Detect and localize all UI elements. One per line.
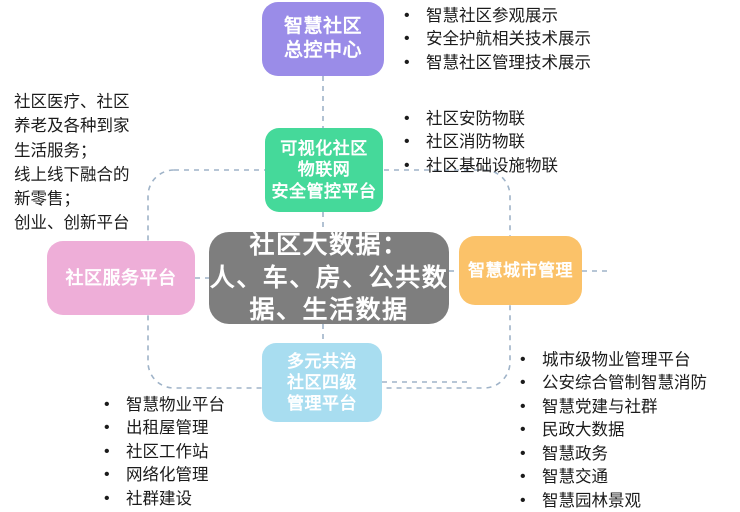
bullet-icon: • [520, 396, 542, 419]
list-item-label: 智慧社区管理技术展示 [426, 52, 591, 75]
list-item: • 安全护航相关技术展示 [404, 28, 591, 51]
list-item-label: 智慧园林景观 [542, 490, 641, 512]
bullet-icon: • [520, 349, 542, 372]
node-multi-governance-four-level-platform[interactable]: 多元共治 社区四级 管理平台 [262, 343, 382, 422]
bullet-icon: • [404, 155, 426, 178]
bullet-icon: • [404, 28, 426, 51]
list-item: • 城市级物业管理平台 [520, 349, 707, 372]
bullet-icon: • [520, 419, 542, 442]
list-item-label: 社群建设 [126, 488, 192, 511]
list-item: • 社区安防物联 [404, 108, 558, 131]
list-item: • 出租屋管理 [104, 417, 225, 440]
list-item: • 公安综合管制智慧消防 [520, 372, 707, 395]
list-item-label: 智慧物业平台 [126, 394, 225, 417]
list-item: • 社区工作站 [104, 441, 225, 464]
bullet-icon: • [404, 131, 426, 154]
node-smart-community-control-center[interactable]: 智慧社区 总控中心 [262, 2, 384, 76]
bullet-icon: • [104, 417, 126, 440]
list-item-label: 智慧党建与社群 [542, 396, 658, 419]
list-item: • 智慧社区参观展示 [404, 5, 591, 28]
list-item: • 智慧物业平台 [104, 394, 225, 417]
annotation-list-bottom-right: • 城市级物业管理平台 • 公安综合管制智慧消防 • 智慧党建与社群 • 民政大… [520, 349, 707, 512]
list-item-label: 智慧政务 [542, 443, 608, 466]
bullet-icon: • [104, 441, 126, 464]
list-item: • 社区基础设施物联 [404, 155, 558, 178]
annotation-list-top-right: • 智慧社区参观展示 • 安全护航相关技术展示 • 智慧社区管理技术展示 [404, 5, 591, 75]
node-community-big-data[interactable]: 社区大数据： 人、车、房、公共数 据、生活数据 [209, 232, 449, 324]
list-item: • 社群建设 [104, 488, 225, 511]
list-item: • 网络化管理 [104, 464, 225, 487]
bullet-icon: • [104, 464, 126, 487]
bullet-icon: • [104, 394, 126, 417]
diagram-canvas: 智慧社区 总控中心 可视化社区 物联网 安全管控平台 社区大数据： 人、车、房、… [0, 0, 740, 512]
bullet-icon: • [404, 52, 426, 75]
node-community-service-platform[interactable]: 社区服务平台 [47, 241, 195, 315]
bullet-icon: • [404, 108, 426, 131]
list-item: • 智慧党建与社群 [520, 396, 707, 419]
list-item: • 智慧社区管理技术展示 [404, 52, 591, 75]
annotation-note-left: 社区医疗、社区 养老及各种到家 生活服务； 线上线下融合的 新零售； 创业、创新… [14, 90, 130, 236]
list-item: • 智慧园林景观 [520, 490, 707, 512]
list-item-label: 社区消防物联 [426, 131, 525, 154]
list-item: • 社区消防物联 [404, 131, 558, 154]
list-item-label: 社区安防物联 [426, 108, 525, 131]
list-item-label: 民政大数据 [542, 419, 625, 442]
list-item-label: 安全护航相关技术展示 [426, 28, 591, 51]
bullet-icon: • [520, 466, 542, 489]
list-item: • 智慧政务 [520, 443, 707, 466]
list-item-label: 社区基础设施物联 [426, 155, 558, 178]
bullet-icon: • [520, 490, 542, 512]
node-visual-community-iot-security-platform[interactable]: 可视化社区 物联网 安全管控平台 [265, 128, 383, 212]
annotation-list-bottom-left: • 智慧物业平台 • 出租屋管理 • 社区工作站 • 网络化管理 • 社群建设 [104, 394, 225, 511]
list-item-label: 城市级物业管理平台 [542, 349, 691, 372]
bullet-icon: • [104, 488, 126, 511]
list-item-label: 出租屋管理 [126, 417, 209, 440]
bullet-icon: • [404, 5, 426, 28]
list-item-label: 公安综合管制智慧消防 [542, 372, 707, 395]
list-item-label: 智慧社区参观展示 [426, 5, 558, 28]
list-item-label: 社区工作站 [126, 441, 209, 464]
list-item-label: 智慧交通 [542, 466, 608, 489]
bullet-icon: • [520, 372, 542, 395]
bullet-icon: • [520, 443, 542, 466]
annotation-list-green-right: • 社区安防物联 • 社区消防物联 • 社区基础设施物联 [404, 108, 558, 178]
node-smart-city-management[interactable]: 智慧城市管理 [459, 236, 582, 305]
list-item-label: 网络化管理 [126, 464, 209, 487]
list-item: • 民政大数据 [520, 419, 707, 442]
list-item: • 智慧交通 [520, 466, 707, 489]
